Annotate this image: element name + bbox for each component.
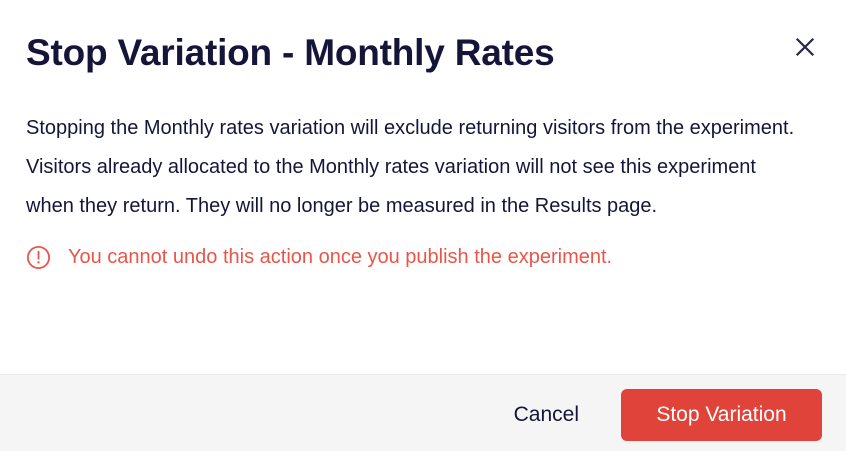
stop-variation-dialog: Stop Variation - Monthly Rates Stopping … <box>0 0 846 456</box>
dialog-footer: Cancel Stop Variation <box>0 374 846 456</box>
warning-message: You cannot undo this action once you pub… <box>26 244 820 270</box>
page-underlay <box>0 451 846 456</box>
cancel-button[interactable]: Cancel <box>500 392 593 438</box>
dialog-body: Stopping the Monthly rates variation wil… <box>0 76 846 374</box>
dialog-description: Stopping the Monthly rates variation wil… <box>26 109 796 226</box>
warning-text: You cannot undo this action once you pub… <box>68 244 612 270</box>
stop-variation-button[interactable]: Stop Variation <box>621 389 822 441</box>
alert-circle-icon <box>26 245 51 270</box>
dialog-header: Stop Variation - Monthly Rates <box>0 0 846 76</box>
close-button[interactable] <box>788 30 822 64</box>
close-icon <box>794 36 816 58</box>
dialog-title: Stop Variation - Monthly Rates <box>26 30 820 76</box>
